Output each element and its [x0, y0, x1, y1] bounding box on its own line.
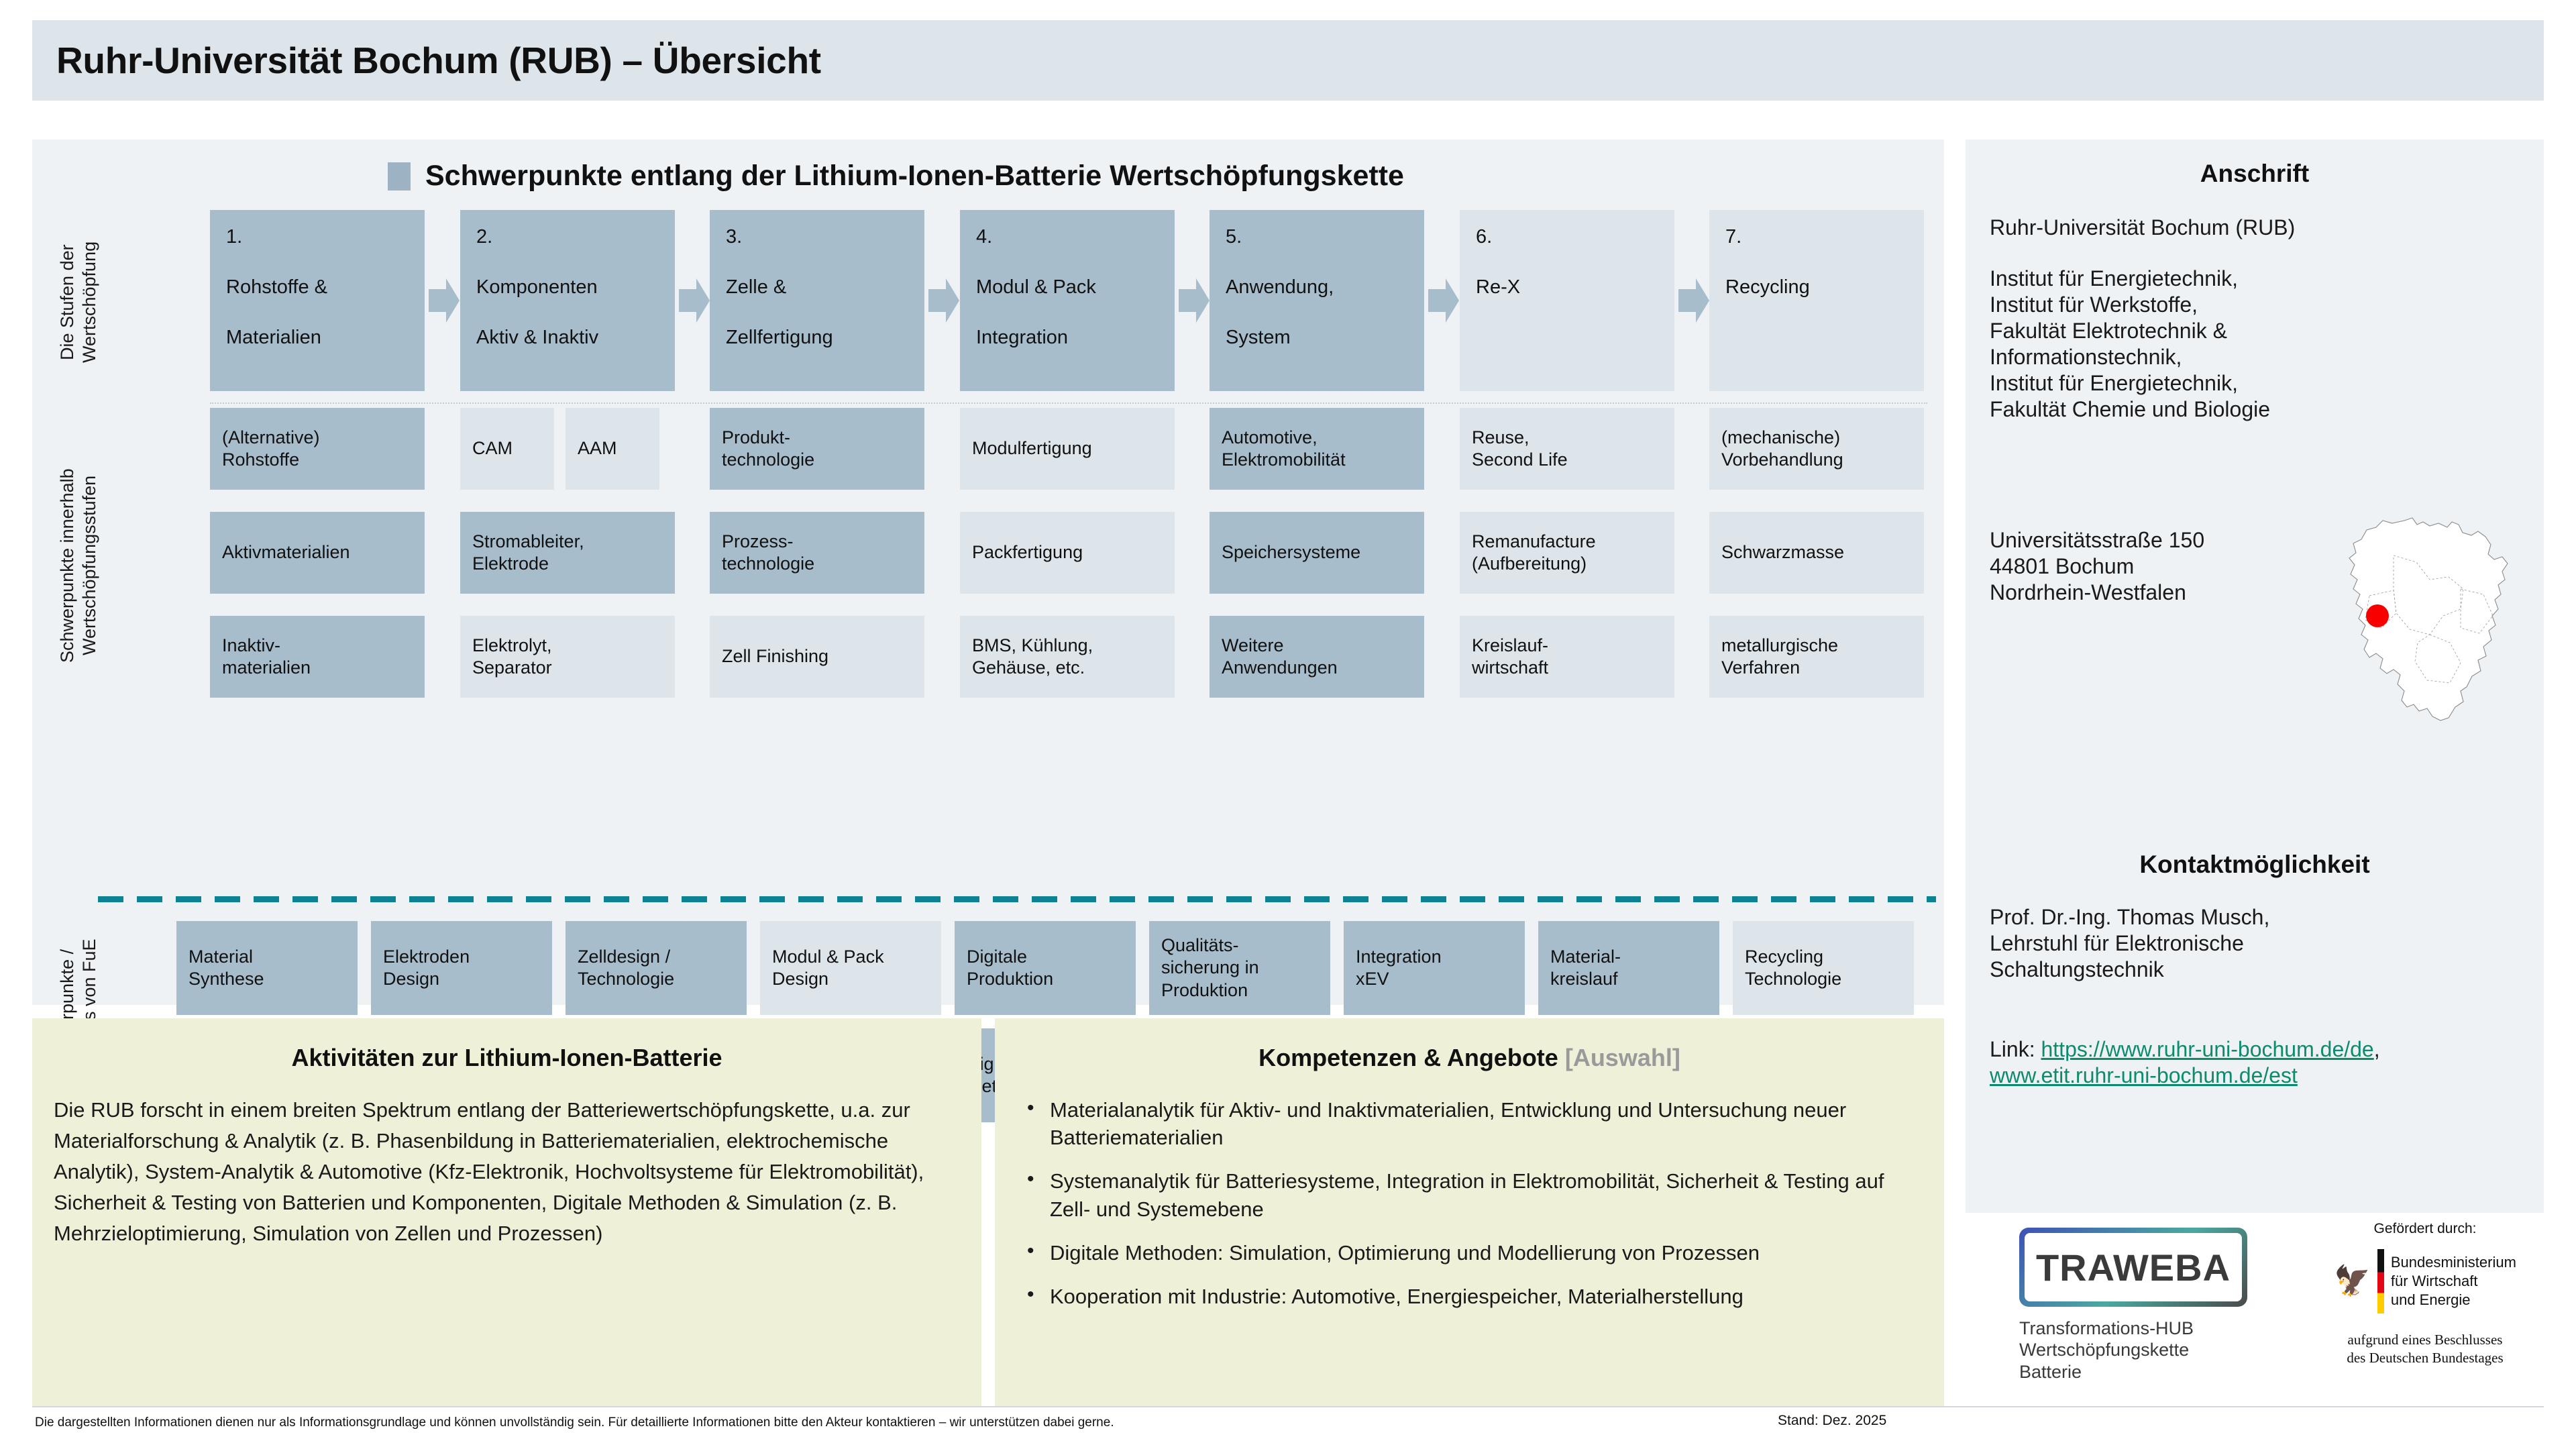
value-chain-stage-1[interactable]: 1.Rohstoffe &Materialien [210, 210, 425, 391]
value-chain-stage-7[interactable]: 7.Recycling [1709, 210, 1924, 391]
funded-by-label: Gefördert durch: [2314, 1221, 2536, 1237]
row-label-stages: Die Stufen der Wertschöpfung [56, 220, 101, 384]
value-chain-stage-3[interactable]: 3.Zelle &Zellfertigung [710, 210, 924, 391]
focus-cell-r2-c6[interactable]: Remanufacture (Aufbereitung) [1460, 512, 1674, 594]
value-chain-panel: Schwerpunkte entlang der Lithium-Ionen-B… [32, 140, 1944, 1005]
value-chain-stage-2[interactable]: 2.KomponentenAktiv & Inaktiv [460, 210, 675, 391]
competence-item-3: Digitale Methoden: Simulation, Optimieru… [1019, 1239, 1913, 1267]
footer-disclaimer: Die dargestellten Informationen dienen n… [35, 1415, 1114, 1430]
value-chain-stage-4[interactable]: 4.Modul & PackIntegration [960, 210, 1175, 391]
stage-line-2: Integration [976, 327, 1161, 349]
footer-date: Stand: Dez. 2025 [1778, 1413, 1886, 1429]
website-link-main[interactable]: https://www.ruhr-uni-bochum.de/de [2041, 1037, 2373, 1061]
competences-box: Kompetenzen & Angebote [Auswahl] Materia… [995, 1018, 1944, 1406]
postal-address: Universitätsstraße 150 44801 Bochum Nord… [1990, 527, 2365, 606]
focus-cell-r3-c4[interactable]: BMS, Kühlung, Gehäuse, etc. [960, 616, 1175, 698]
logo-area: TRAWEBA Transformations-HUB Wertschöpfun… [1966, 1221, 2544, 1415]
focus-cell-r3-c5[interactable]: Weitere Anwendungen [1210, 616, 1424, 698]
focus-cell-r2-c2[interactable]: Stromableiter, Elektrode [460, 512, 675, 594]
rnd-cell-r1-c6[interactable]: Qualitäts- sicherung in Produktion [1149, 921, 1330, 1015]
rnd-cell-r1-c9[interactable]: Recycling Technologie [1733, 921, 1914, 1015]
poster-page: Ruhr-Universität Bochum (RUB) – Übersich… [0, 0, 2576, 1449]
stage-line-1: Rohstoffe & [226, 276, 411, 299]
contact-heading: Kontaktmöglichkeit [1966, 851, 2544, 879]
row-label-focus: Schwerpunkte innerhalb Wertschöpfungsstu… [56, 408, 101, 723]
rnd-cell-r1-c5[interactable]: Digitale Produktion [955, 921, 1136, 1015]
footer-divider [32, 1406, 2544, 1407]
stage-number: 6. [1476, 226, 1661, 248]
divider-dotted-top [210, 402, 1927, 404]
rnd-cell-r1-c8[interactable]: Material- kreislauf [1538, 921, 1719, 1015]
stage-number: 7. [1725, 226, 1911, 248]
stage-line-1: Zelle & [726, 276, 911, 299]
focus-cell-r1-c8[interactable]: (mechanische) Vorbehandlung [1709, 408, 1924, 490]
institutes-list: Institut für Energietechnik, Institut fü… [1990, 266, 2500, 423]
rnd-cell-r1-c4[interactable]: Modul & Pack Design [760, 921, 941, 1015]
focus-cell-r3-c7[interactable]: metallurgische Verfahren [1709, 616, 1924, 698]
focus-cell-r1-c3[interactable]: AAM [566, 408, 659, 490]
competence-item-2: Systemanalytik für Batteriesysteme, Inte… [1019, 1167, 1913, 1222]
stage-line-1: Komponenten [476, 276, 661, 299]
focus-cell-r1-c4[interactable]: Produkt- technologie [710, 408, 924, 490]
focus-cell-r1-c6[interactable]: Automotive, Elektromobilität [1210, 408, 1424, 490]
traweba-logo: TRAWEBA Transformations-HUB Wertschöpfun… [2019, 1228, 2261, 1383]
competences-heading-main: Kompetenzen & Angebote [1258, 1044, 1565, 1071]
stage-line-1: Anwendung, [1226, 276, 1411, 299]
focus-cell-r2-c7[interactable]: Schwarzmasse [1709, 512, 1924, 594]
competences-heading: Kompetenzen & Angebote [Auswahl] [995, 1044, 1944, 1072]
stage-line-2: Zellfertigung [726, 327, 911, 349]
ministry-name: Bundesministerium für Wirtschaft und Ene… [2391, 1253, 2516, 1309]
germany-map [2329, 515, 2530, 737]
rnd-cell-r1-c3[interactable]: Zelldesign / Technologie [566, 921, 747, 1015]
square-marker-icon [388, 162, 411, 191]
address-heading: Anschrift [1966, 160, 2544, 188]
value-chain-stage-6[interactable]: 6.Re-X [1460, 210, 1674, 391]
focus-cell-r1-c1[interactable]: (Alternative) Rohstoffe [210, 408, 425, 490]
website-link-chair[interactable]: www.etit.ruhr-uni-bochum.de/est [1990, 1063, 2298, 1087]
stage-line-1: Modul & Pack [976, 276, 1161, 299]
focus-cell-r2-c3[interactable]: Prozess- technologie [710, 512, 924, 594]
focus-cell-r3-c3[interactable]: Zell Finishing [710, 616, 924, 698]
stage-line-1: Recycling [1725, 276, 1911, 299]
stage-number: 3. [726, 226, 911, 248]
focus-cell-r2-c1[interactable]: Aktivmaterialien [210, 512, 425, 594]
stage-number: 1. [226, 226, 411, 248]
focus-cell-r3-c6[interactable]: Kreislauf- wirtschaft [1460, 616, 1674, 698]
activities-box: Aktivitäten zur Lithium-Ionen-Batterie D… [32, 1018, 981, 1406]
competence-item-1: Materialanalytik für Aktiv- und Inaktivm… [1019, 1096, 1913, 1151]
focus-cell-r1-c7[interactable]: Reuse, Second Life [1460, 408, 1674, 490]
rnd-cell-r1-c7[interactable]: Integration xEV [1344, 921, 1525, 1015]
value-chain-stage-5[interactable]: 5.Anwendung,System [1210, 210, 1424, 391]
stage-line-2: Aktiv & Inaktiv [476, 327, 661, 349]
focus-cell-r1-c2[interactable]: CAM [460, 408, 554, 490]
traweba-logo-frame: TRAWEBA [2019, 1228, 2247, 1307]
focus-cell-r3-c1[interactable]: Inaktiv- materialien [210, 616, 425, 698]
bundestag-resolution: aufgrund eines Beschlusses des Deutschen… [2314, 1331, 2536, 1368]
value-chain-stage-row: 1.Rohstoffe &Materialien2.KomponentenAkt… [210, 210, 1927, 391]
divider-teal-dashed [98, 896, 1936, 902]
focus-cell-r2-c5[interactable]: Speichersysteme [1210, 512, 1424, 594]
traweba-wordmark: TRAWEBA [2036, 1246, 2231, 1289]
stage-line-2: System [1226, 327, 1411, 349]
link-label: Link: [1990, 1037, 2041, 1061]
page-title: Ruhr-Universität Bochum (RUB) – Übersich… [32, 39, 821, 82]
stage-line-2: Materialien [226, 327, 411, 349]
bmwi-logo: Gefördert durch: 🦅 Bundesministerium für… [2314, 1221, 2536, 1368]
competence-item-4: Kooperation mit Industrie: Automotive, E… [1019, 1283, 1913, 1310]
activities-body: Die RUB forscht in einem breiten Spektru… [54, 1095, 956, 1248]
stage-line-1: Re-X [1476, 276, 1661, 299]
stage-number: 5. [1226, 226, 1411, 248]
rnd-cell-r1-c1[interactable]: Material Synthese [176, 921, 358, 1015]
traweba-subtitle: Transformations-HUB Wertschöpfungskette … [2019, 1318, 2261, 1383]
competences-heading-selection: [Auswahl] [1565, 1044, 1680, 1071]
activities-heading: Aktivitäten zur Lithium-Ionen-Batterie [32, 1044, 981, 1072]
federal-eagle-icon: 🦅 [2334, 1267, 2371, 1296]
focus-cell-r3-c2[interactable]: Elektrolyt, Separator [460, 616, 675, 698]
focus-cell-r1-c5[interactable]: Modulfertigung [960, 408, 1175, 490]
competences-list: Materialanalytik für Aktiv- und Inaktivm… [1019, 1096, 1913, 1310]
german-flag-bar-icon [2377, 1249, 2384, 1313]
organisation-name: Ruhr-Universität Bochum (RUB) [1990, 215, 2500, 241]
stage-number: 2. [476, 226, 661, 248]
info-sidebar: Anschrift Ruhr-Universität Bochum (RUB) … [1966, 140, 2544, 1213]
link-separator: , [2374, 1037, 2380, 1061]
focus-cell-r2-c4[interactable]: Packfertigung [960, 512, 1175, 594]
stage-number: 4. [976, 226, 1161, 248]
panel-heading-text: Schwerpunkte entlang der Lithium-Ionen-B… [425, 160, 1404, 193]
panel-heading: Schwerpunkte entlang der Lithium-Ionen-B… [388, 160, 1404, 193]
map-location-dot [2366, 604, 2389, 627]
rnd-cell-r1-c2[interactable]: Elektroden Design [371, 921, 552, 1015]
contact-person: Prof. Dr.-Ing. Thomas Musch, Lehrstuhl f… [1990, 904, 2500, 983]
page-header: Ruhr-Universität Bochum (RUB) – Übersich… [32, 20, 2544, 101]
